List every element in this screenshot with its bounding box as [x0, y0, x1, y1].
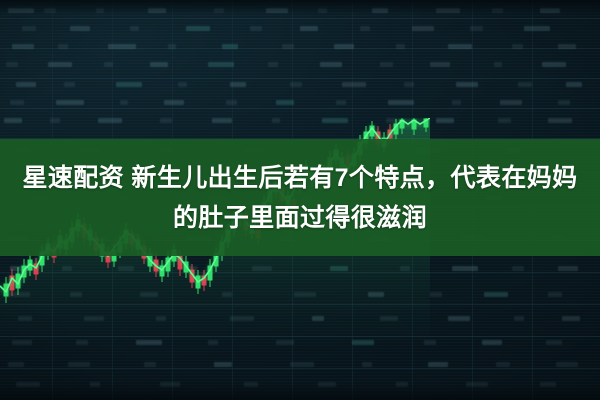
banner-image: 星速配资 新生儿出生后若有7个特点，代表在妈妈的肚子里面过得很滋润	[0, 0, 600, 400]
headline-text: 星速配资 新生儿出生后若有7个特点，代表在妈妈的肚子里面过得很滋润	[20, 158, 580, 238]
headline-band: 星速配资 新生儿出生后若有7个特点，代表在妈妈的肚子里面过得很滋润	[0, 139, 600, 256]
